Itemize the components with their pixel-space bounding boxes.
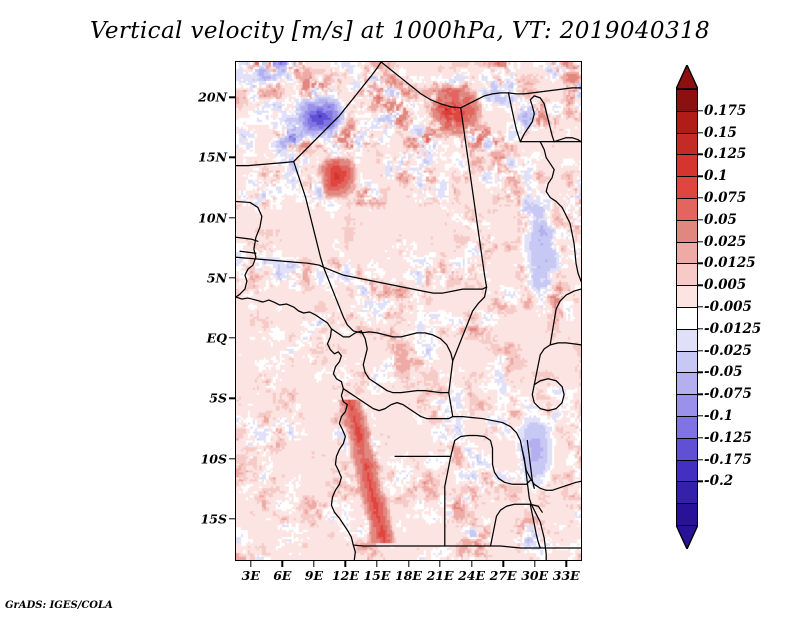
y-axis-label-5s: 5S bbox=[185, 391, 227, 406]
colorbar-segment bbox=[676, 460, 698, 483]
colorbar-segment bbox=[676, 263, 698, 286]
colorbar-tick bbox=[698, 350, 703, 351]
colorbar-segment bbox=[676, 438, 698, 461]
colorbar-label: -0.1 bbox=[704, 408, 733, 424]
colorbar-segment bbox=[676, 154, 698, 177]
colorbar-label: 0.125 bbox=[704, 146, 746, 162]
colorbar-top-arrow bbox=[676, 65, 698, 89]
x-axis-tick bbox=[471, 561, 472, 567]
x-axis-label-6e: 6E bbox=[273, 568, 291, 583]
x-axis-tick bbox=[439, 561, 440, 567]
country-borders-overlay bbox=[236, 62, 581, 560]
colorbar bbox=[676, 89, 698, 525]
colorbar-tick bbox=[698, 132, 703, 133]
y-axis-label-10s: 10S bbox=[185, 451, 227, 466]
colorbar-segment bbox=[676, 111, 698, 134]
x-axis-tick bbox=[534, 561, 535, 567]
colorbar-tick bbox=[698, 328, 703, 329]
colorbar-segment bbox=[676, 307, 698, 330]
y-axis-tick bbox=[229, 458, 235, 459]
colorbar-bottom-arrow bbox=[676, 525, 698, 549]
y-axis-tick bbox=[229, 398, 235, 399]
colorbar-tick bbox=[698, 219, 703, 220]
colorbar-label: 0.025 bbox=[704, 234, 746, 250]
x-axis-label-18e: 18E bbox=[395, 568, 422, 583]
y-axis-tick bbox=[229, 96, 235, 97]
colorbar-segment bbox=[676, 89, 698, 112]
grads-credit: GrADS: IGES/COLA bbox=[5, 600, 113, 611]
colorbar-label: 0.05 bbox=[704, 212, 737, 228]
colorbar-label: 0.0125 bbox=[704, 255, 756, 271]
colorbar-label: -0.175 bbox=[704, 452, 752, 468]
colorbar-tick bbox=[698, 437, 703, 438]
colorbar-segment bbox=[676, 285, 698, 308]
colorbar-segment bbox=[676, 329, 698, 352]
colorbar-label: -0.05 bbox=[704, 364, 742, 380]
y-axis-label-20n: 20N bbox=[185, 90, 227, 105]
y-axis-tick bbox=[229, 157, 235, 158]
colorbar-segment bbox=[676, 133, 698, 156]
x-axis-tick bbox=[566, 561, 567, 567]
colorbar-tick bbox=[698, 154, 703, 155]
colorbar-label: 0.005 bbox=[704, 277, 746, 293]
colorbar-tick bbox=[698, 372, 703, 373]
colorbar-tick bbox=[698, 459, 703, 460]
colorbar-label: 0.075 bbox=[704, 190, 746, 206]
x-axis-label-15e: 15E bbox=[363, 568, 390, 583]
colorbar-tick bbox=[698, 481, 703, 482]
y-axis-tick bbox=[229, 518, 235, 519]
x-axis-tick bbox=[282, 561, 283, 567]
x-axis-tick bbox=[376, 561, 377, 567]
colorbar-label: 0.175 bbox=[704, 103, 746, 119]
y-axis-tick bbox=[229, 337, 235, 338]
colorbar-segment bbox=[676, 503, 698, 526]
colorbar-segment bbox=[676, 351, 698, 374]
colorbar-tick bbox=[698, 393, 703, 394]
x-axis-tick bbox=[345, 561, 346, 567]
colorbar-label: 0.1 bbox=[704, 168, 728, 184]
x-axis-tick bbox=[502, 561, 503, 567]
colorbar-segment bbox=[676, 198, 698, 221]
x-axis-label-3e: 3E bbox=[242, 568, 260, 583]
y-axis-tick bbox=[229, 217, 235, 218]
colorbar-segment bbox=[676, 242, 698, 265]
colorbar-label: -0.025 bbox=[704, 343, 752, 359]
colorbar-label: -0.125 bbox=[704, 430, 752, 446]
map-plot-area bbox=[235, 61, 582, 561]
x-axis-label-33e: 33E bbox=[553, 568, 580, 583]
y-axis-tick bbox=[229, 277, 235, 278]
x-axis-tick bbox=[250, 561, 251, 567]
x-axis-tick bbox=[408, 561, 409, 567]
x-axis-label-27e: 27E bbox=[490, 568, 517, 583]
colorbar-label: 0.15 bbox=[704, 125, 737, 141]
colorbar-tick bbox=[698, 415, 703, 416]
colorbar-segment bbox=[676, 394, 698, 417]
colorbar-tick bbox=[698, 241, 703, 242]
colorbar-segment bbox=[676, 416, 698, 439]
colorbar-tick bbox=[698, 110, 703, 111]
colorbar-segment bbox=[676, 481, 698, 504]
x-axis-label-12e: 12E bbox=[332, 568, 359, 583]
y-axis-label-5n: 5N bbox=[185, 270, 227, 285]
colorbar-label: -0.075 bbox=[704, 386, 752, 402]
colorbar-segment bbox=[676, 220, 698, 243]
colorbar-label: -0.005 bbox=[704, 299, 752, 315]
x-axis-label-9e: 9E bbox=[305, 568, 323, 583]
page-title: Vertical velocity [m/s] at 1000hPa, VT: … bbox=[0, 18, 800, 44]
colorbar-label: -0.0125 bbox=[704, 321, 761, 337]
x-axis-tick bbox=[313, 561, 314, 567]
colorbar-tick bbox=[698, 306, 703, 307]
colorbar-tick bbox=[698, 263, 703, 264]
x-axis-label-30e: 30E bbox=[521, 568, 548, 583]
y-axis-label-15s: 15S bbox=[185, 511, 227, 526]
y-axis-label-eq: EQ bbox=[185, 331, 227, 346]
colorbar-tick bbox=[698, 284, 703, 285]
y-axis-label-10n: 10N bbox=[185, 210, 227, 225]
colorbar-segment bbox=[676, 372, 698, 395]
colorbar-tick bbox=[698, 197, 703, 198]
colorbar-tick bbox=[698, 175, 703, 176]
x-axis-label-24e: 24E bbox=[458, 568, 485, 583]
x-axis-label-21e: 21E bbox=[427, 568, 454, 583]
colorbar-label: -0.2 bbox=[704, 473, 733, 489]
y-axis-label-15n: 15N bbox=[185, 150, 227, 165]
colorbar-segment bbox=[676, 176, 698, 199]
